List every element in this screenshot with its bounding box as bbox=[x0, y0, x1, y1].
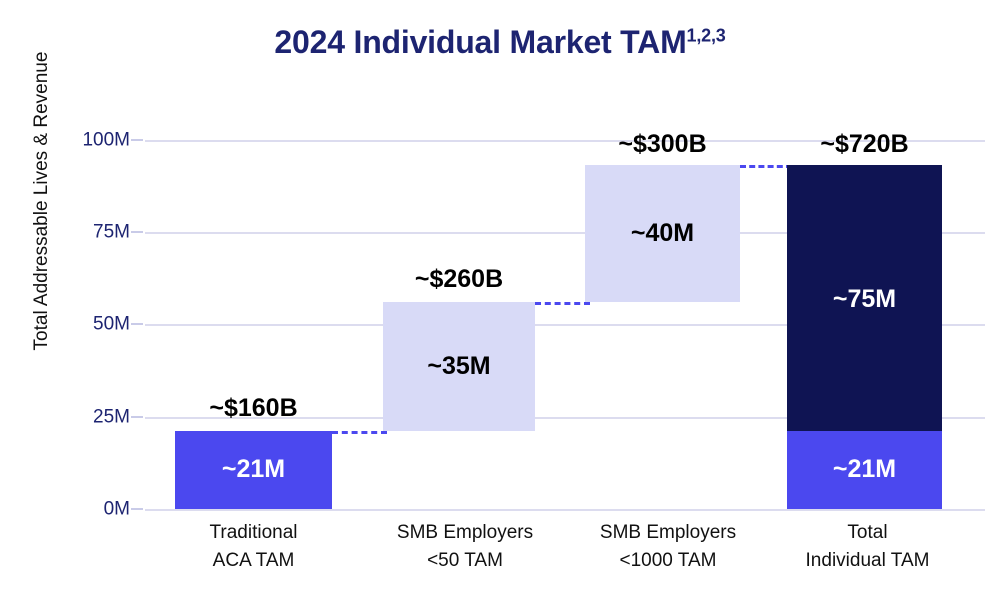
bar-value-label-total-individual-tam-75M: ~75M bbox=[787, 287, 942, 312]
bar-smb-employers-under-50-tam[interactable]: ~35M bbox=[383, 302, 535, 431]
x-category-line-2: <50 TAM bbox=[375, 547, 555, 575]
bar-traditional-aca-tam[interactable]: ~21M bbox=[175, 431, 332, 509]
y-tick-mark-50M bbox=[131, 323, 143, 325]
bar-revenue-label-smb-employers-under-50-tam: ~$260B bbox=[383, 267, 535, 292]
y-tick-label-100M: 100M bbox=[60, 131, 130, 150]
y-axis-title: Total Addressable Lives & Revenue bbox=[31, 1, 53, 401]
x-category-line-2: ACA TAM bbox=[175, 547, 332, 575]
y-tick-label-75M: 75M bbox=[60, 223, 130, 242]
x-category-smb-employers-under-1000-tam: SMB Employers <1000 TAM bbox=[573, 519, 763, 574]
x-category-smb-employers-under-50-tam: SMB Employers <50 TAM bbox=[375, 519, 555, 574]
x-category-total-individual-tam: Total Individual TAM bbox=[780, 519, 955, 574]
y-tick-mark-75M bbox=[131, 231, 143, 233]
x-category-line-2: Individual TAM bbox=[780, 547, 955, 575]
y-tick-mark-25M bbox=[131, 416, 143, 418]
bar-total-individual-tam-upper-segment[interactable]: ~75M bbox=[787, 165, 942, 431]
x-category-line-2: <1000 TAM bbox=[573, 547, 763, 575]
bar-value-label-smb-employers-under-50-tam: ~35M bbox=[383, 354, 535, 379]
bar-smb-employers-under-1000-tam[interactable]: ~40M bbox=[585, 165, 740, 302]
bar-revenue-label-smb-employers-under-1000-tam: ~$300B bbox=[585, 132, 740, 157]
bar-total-individual-tam-lower-segment[interactable]: ~21M bbox=[787, 431, 942, 509]
connector-line-1 bbox=[332, 431, 387, 434]
y-tick-mark-0M bbox=[131, 508, 143, 510]
x-category-line-1: Traditional bbox=[175, 519, 332, 547]
connector-line-3 bbox=[740, 165, 792, 168]
title-text: 2024 Individual Market TAM bbox=[274, 24, 686, 60]
bar-value-label-smb-employers-under-1000-tam: ~40M bbox=[585, 221, 740, 246]
gridline-0M bbox=[145, 509, 985, 511]
x-category-line-1: SMB Employers bbox=[573, 519, 763, 547]
x-category-line-1: SMB Employers bbox=[375, 519, 555, 547]
x-category-line-1: Total bbox=[780, 519, 955, 547]
y-tick-label-50M: 50M bbox=[60, 315, 130, 334]
page-title: 2024 Individual Market TAM1,2,3 bbox=[0, 24, 1000, 61]
x-category-traditional-aca-tam: Traditional ACA TAM bbox=[175, 519, 332, 574]
plot-area: ~21M ~$160B ~35M ~$260B ~40M ~$300B ~75M… bbox=[145, 140, 985, 509]
bar-value-label-traditional-aca-tam: ~21M bbox=[175, 457, 332, 482]
y-tick-mark-100M bbox=[131, 139, 143, 141]
y-tick-label-0M: 0M bbox=[60, 500, 130, 519]
bar-revenue-label-total-individual-tam: ~$720B bbox=[787, 132, 942, 157]
y-tick-label-25M: 25M bbox=[60, 408, 130, 427]
bar-revenue-label-traditional-aca-tam: ~$160B bbox=[175, 396, 332, 421]
connector-line-2 bbox=[535, 302, 590, 305]
title-footnote-superscript: 1,2,3 bbox=[687, 25, 726, 45]
bar-value-label-total-individual-tam-21M: ~21M bbox=[787, 457, 942, 482]
